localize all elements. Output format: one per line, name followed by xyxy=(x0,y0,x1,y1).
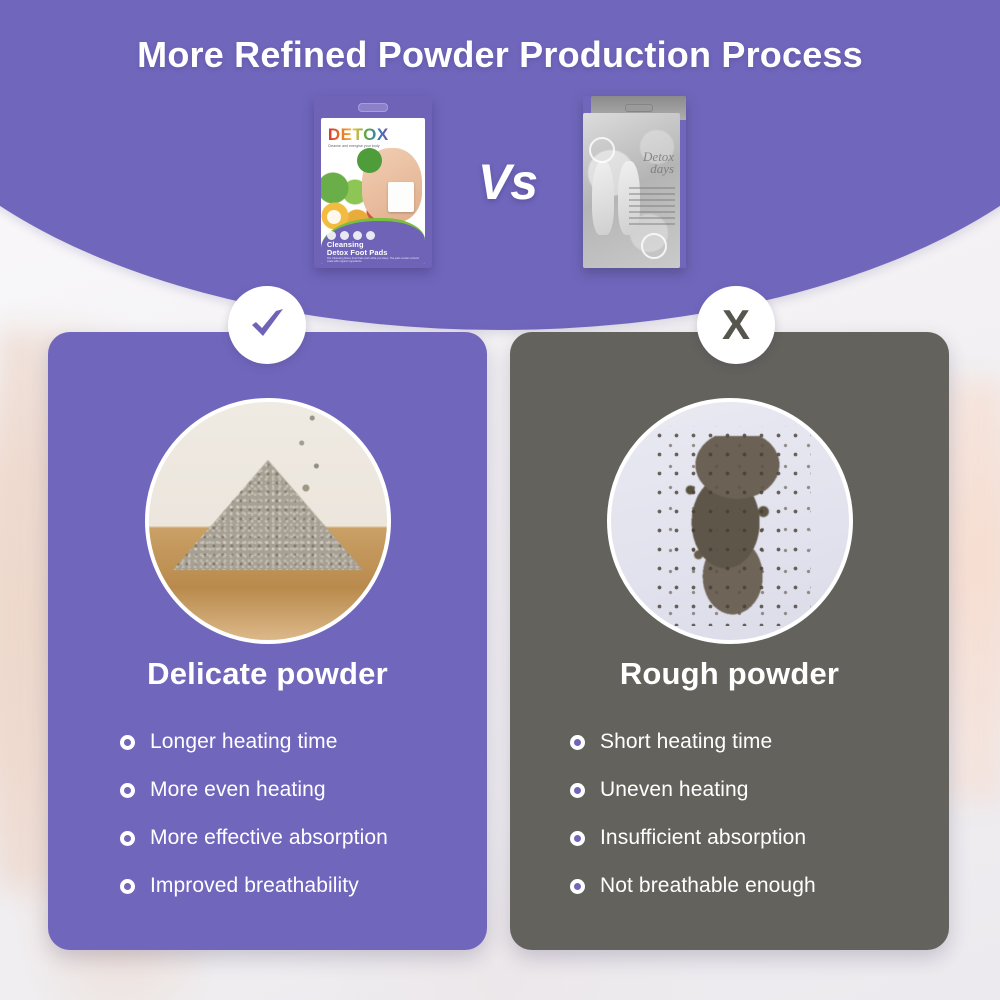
bullet-marker-icon xyxy=(120,831,135,846)
competitor-script-text: Detox days xyxy=(643,151,674,176)
comparison-card-rough: Rough powder Short heating time Uneven h… xyxy=(510,332,949,950)
list-item: Uneven heating xyxy=(510,766,949,814)
list-item: More effective absorption xyxy=(48,814,487,862)
list-item: More even heating xyxy=(48,766,487,814)
bullet-marker-icon xyxy=(120,735,135,750)
delicate-powder-photo xyxy=(145,398,391,644)
list-item-label: Insufficient absorption xyxy=(600,826,806,850)
bullet-marker-icon xyxy=(570,783,585,798)
list-item: Short heating time xyxy=(510,718,949,766)
list-item: Insufficient absorption xyxy=(510,814,949,862)
x-badge: X xyxy=(697,286,775,364)
our-product-package: DETOX Cleanse and energise your body Cle… xyxy=(314,96,432,268)
competitor-text-block xyxy=(629,187,675,227)
list-item: Not breathable enough xyxy=(510,862,949,910)
rough-powder-photo xyxy=(607,398,853,644)
package-brand: DETOX xyxy=(328,125,389,145)
feature-list-rough: Short heating time Uneven heating Insuff… xyxy=(510,718,949,910)
competitor-product-package: Detox days xyxy=(583,96,686,268)
list-item: Improved breathability xyxy=(48,862,487,910)
green-badge-icon xyxy=(357,148,382,173)
coarse-granule-specks xyxy=(651,426,811,626)
package-count-badge xyxy=(327,210,341,224)
hero-product-row: DETOX Cleanse and energise your body Cle… xyxy=(0,92,1000,272)
list-item: Longer heating time xyxy=(48,718,487,766)
package-product-name: Cleansing Detox Foot Pads xyxy=(327,241,388,258)
foot-pad-graphic xyxy=(388,182,414,212)
package-front-face: DETOX Cleanse and energise your body Cle… xyxy=(321,118,425,264)
package-description: Our Cleansing Detox Foot Pads work while… xyxy=(327,257,425,263)
check-icon xyxy=(245,303,289,347)
package-tagline: Cleanse and energise your body xyxy=(328,144,380,148)
package-feature-icons xyxy=(327,231,375,240)
bullet-marker-icon xyxy=(570,735,585,750)
vs-label: Vs xyxy=(478,153,537,211)
list-item-label: Uneven heating xyxy=(600,778,749,802)
list-item-label: Longer heating time xyxy=(150,730,338,754)
infographic-canvas: More Refined Powder Production Process D… xyxy=(0,0,1000,1000)
x-icon: X xyxy=(722,304,750,346)
competitor-circle-2 xyxy=(641,233,667,259)
package-hang-tab xyxy=(358,103,388,112)
page-title: More Refined Powder Production Process xyxy=(0,34,1000,76)
bullet-marker-icon xyxy=(120,879,135,894)
feature-list-delicate: Longer heating time More even heating Mo… xyxy=(48,718,487,910)
bullet-marker-icon xyxy=(570,831,585,846)
bullet-marker-icon xyxy=(570,879,585,894)
card-title-delicate: Delicate powder xyxy=(48,656,487,692)
list-item-label: More effective absorption xyxy=(150,826,388,850)
check-badge xyxy=(228,286,306,364)
list-item-label: More even heating xyxy=(150,778,326,802)
list-item-label: Not breathable enough xyxy=(600,874,816,898)
comparison-card-delicate: Delicate powder Longer heating time More… xyxy=(48,332,487,950)
competitor-pouch-body: Detox days xyxy=(583,113,680,268)
card-title-rough: Rough powder xyxy=(510,656,949,692)
bullet-marker-icon xyxy=(120,783,135,798)
list-item-label: Short heating time xyxy=(600,730,772,754)
competitor-circle-1 xyxy=(589,137,615,163)
list-item-label: Improved breathability xyxy=(150,874,359,898)
